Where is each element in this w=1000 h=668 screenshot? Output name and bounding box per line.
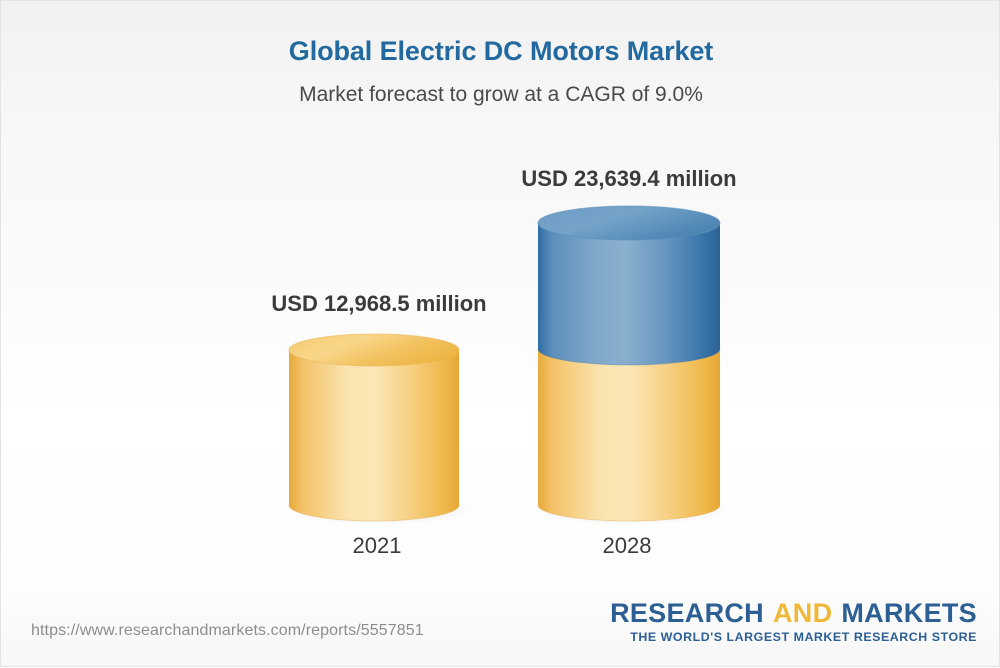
research-and-markets-logo[interactable]: RESEARCHANDMARKETS THE WORLD'S LARGEST M…: [610, 599, 977, 644]
logo-word-research: RESEARCH: [610, 598, 764, 628]
logo-word-and: AND: [773, 598, 832, 628]
x-axis-label-2028: 2028: [529, 533, 725, 559]
value-label-2028: USD 23,639.4 million: [494, 166, 764, 192]
logo-tagline: THE WORLD'S LARGEST MARKET RESEARCH STOR…: [610, 630, 977, 644]
chart-plot-area: USD 12,968.5 million: [1, 1, 1000, 668]
logo-wordmark: RESEARCHANDMARKETS: [610, 599, 977, 627]
value-label-2021: USD 12,968.5 million: [244, 291, 514, 317]
cylinder-bar-2021[interactable]: [277, 331, 477, 531]
report-url-link[interactable]: https://www.researchandmarkets.com/repor…: [31, 622, 424, 640]
cylinder-bar-2028[interactable]: [524, 199, 740, 529]
logo-word-markets: MARKETS: [841, 598, 977, 628]
x-axis-label-2021: 2021: [279, 533, 475, 559]
infographic-canvas: Global Electric DC Motors Market Market …: [0, 0, 1000, 667]
